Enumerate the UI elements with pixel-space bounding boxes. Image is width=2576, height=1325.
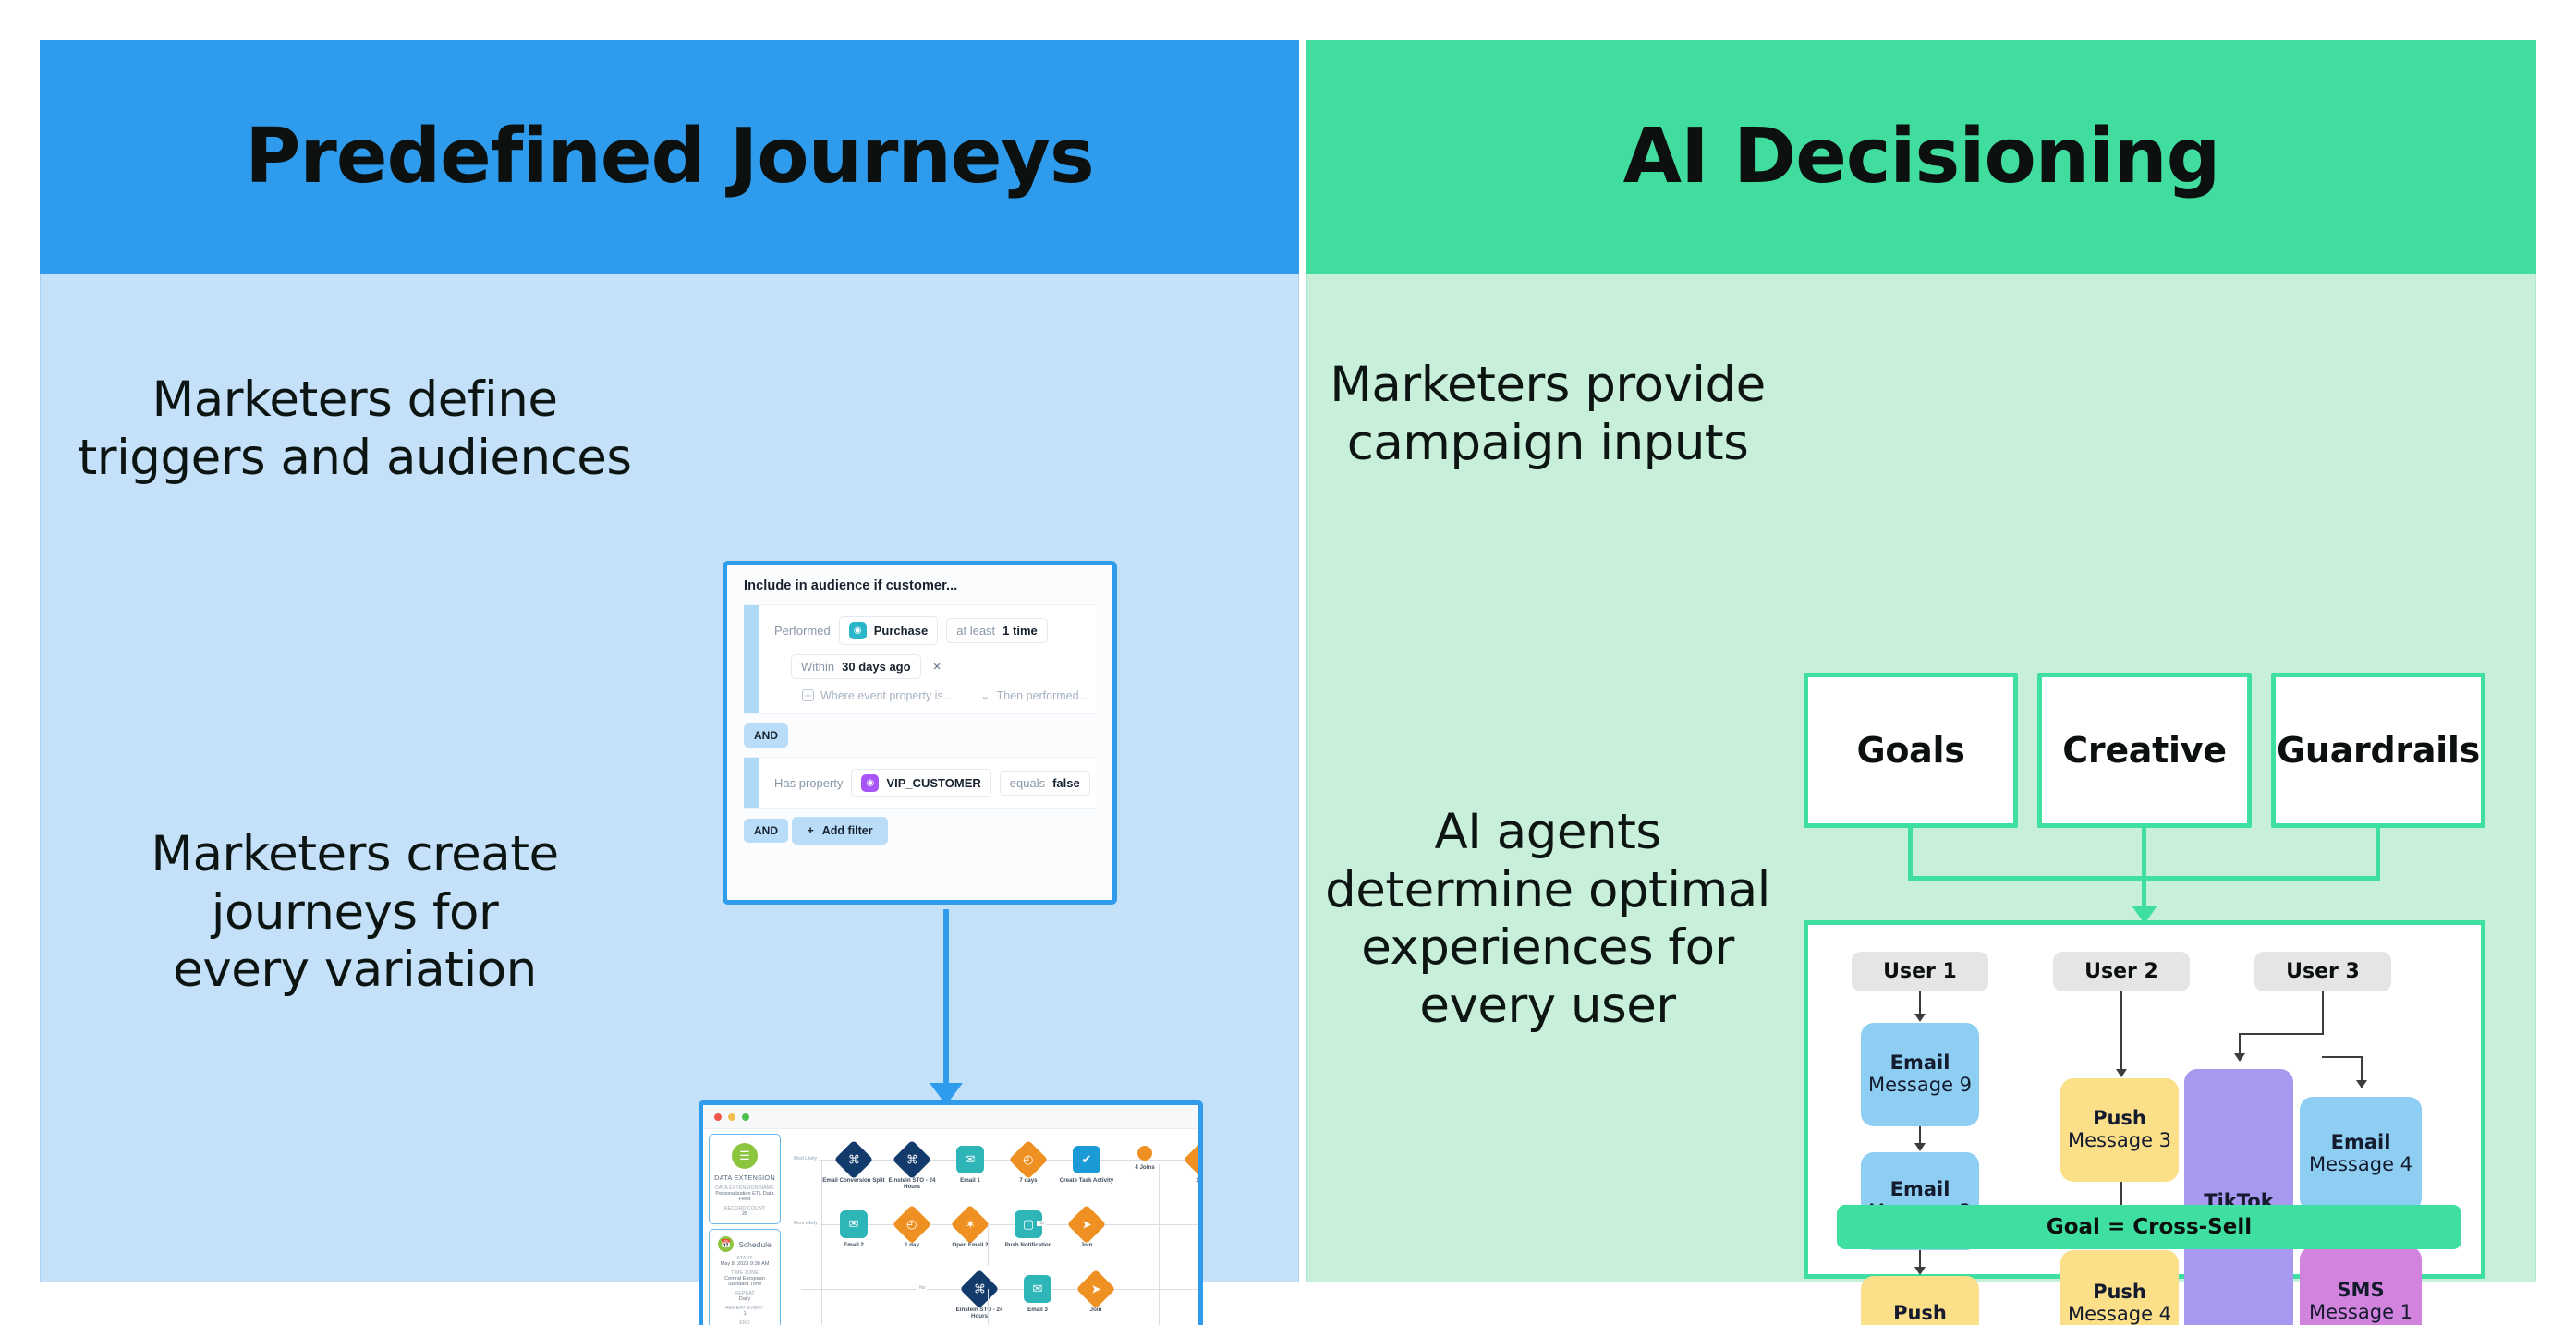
ai-decisioning-panel: AI Decisioning Marketers provide campaig… [1306, 40, 2536, 1282]
journey-node[interactable]: ⌘Einstein STO - 24 Hours [947, 1275, 1012, 1320]
flow-arrowhead-icon [2234, 1053, 2245, 1062]
schedule-repeat-value: Daily [713, 1296, 776, 1302]
close-icon[interactable]: × [933, 659, 942, 675]
message-node-u3-email: Email Message 4 [2300, 1097, 2422, 1211]
filter-frequency-prefix: at least [956, 624, 995, 638]
journey-join-line [1159, 1229, 1160, 1298]
right-blurb-2-line1: AI agents [1317, 804, 1779, 862]
window-close-icon[interactable] [714, 1113, 722, 1121]
right-blurb-1: Marketers provide campaign inputs [1317, 357, 1779, 472]
journey-node[interactable]: ➤Join [1063, 1275, 1128, 1313]
message-node-u2-2-channel: Push [2093, 1282, 2146, 1304]
journey-node-circ-icon [1137, 1146, 1152, 1161]
flow-arrowhead-icon [2356, 1080, 2367, 1088]
journey-node-dia-icon: ➤ [1067, 1205, 1106, 1244]
filter-add-property-action[interactable]: + Where event property is... [802, 689, 953, 702]
user-node-1: User 1 [1852, 952, 1988, 991]
flow-line [2322, 1056, 2363, 1058]
journey-builder-card[interactable]: ☰ DATA EXTENSION DATA EXTENSION NAME Per… [699, 1100, 1203, 1325]
left-blurb-1: Marketers define triggers and audiences [59, 371, 650, 487]
right-panel-body: Marketers provide campaign inputs AI age… [1306, 274, 2536, 1282]
journey-node-dia-icon: ⌘ [893, 1140, 931, 1179]
connector-guardrails-stem [2376, 828, 2380, 881]
left-blurb-1-line2: triggers and audiences [59, 430, 650, 488]
journey-trunk-line [821, 1160, 822, 1325]
ai-decision-diagram: User 1 User 2 User 3 Email Message 9 Ema [1804, 920, 2485, 1279]
filter-event-chip[interactable]: ◉ Purchase [839, 616, 939, 645]
journey-node-label: 1 day [880, 1242, 944, 1248]
filter-label-has-property: Has property [774, 776, 843, 790]
journey-node-label: 4 Joins [1112, 1164, 1177, 1171]
input-box-creative[interactable]: Creative [2037, 673, 2252, 828]
flow-line [2361, 1056, 2363, 1082]
journey-row: No⌘Einstein STO - 24 Hours✉Email 3➤Join [784, 1266, 1198, 1325]
schedule-title: Schedule [738, 1240, 771, 1249]
journey-node-label: Open Email 2 [938, 1242, 1002, 1248]
window-minimize-icon[interactable] [728, 1113, 735, 1121]
journey-node[interactable]: 4 Joins [1112, 1146, 1177, 1171]
schedule-end-key: END [713, 1320, 776, 1325]
input-box-creative-label: Creative [2062, 730, 2226, 771]
filter-subactions: + Where event property is... ⌄ Then perf… [802, 688, 1096, 702]
journey-node-sq-icon: ✉ [1024, 1275, 1051, 1303]
journey-node[interactable]: ✉Email 3 [1005, 1275, 1070, 1313]
add-filter-button[interactable]: + Add filter [792, 817, 887, 845]
flow-arrowhead-icon [2116, 1069, 2127, 1077]
connector-goals-stem [1908, 828, 1913, 881]
right-blurb-2-line4: every user [1317, 978, 1779, 1036]
right-blurb-1-line1: Marketers provide [1317, 357, 1779, 415]
journey-node-dia-icon: ◴ [893, 1205, 931, 1244]
filter-condition-group-2: Has property ◉ VIP_CUSTOMER equals false [744, 757, 1096, 809]
message-node-u1-2-channel: Email [1890, 1179, 1950, 1201]
left-panel-body: Marketers define triggers and audiences … [40, 274, 1299, 1282]
journey-branch-line [988, 1289, 989, 1325]
connector-creative-stem [2142, 828, 2146, 881]
journey-node-dia-icon: ⌘ [834, 1140, 873, 1179]
filter-event-name: Purchase [874, 624, 929, 638]
journey-node-label: 7 days [996, 1177, 1061, 1184]
page-title-right: AI Decisioning [1623, 119, 2220, 195]
flow-line [1919, 1126, 1921, 1145]
filter-rail [744, 758, 759, 808]
journey-edge-label: No [917, 1285, 927, 1291]
flow-line [2120, 991, 2122, 1071]
flow-arrowhead-icon [1914, 1014, 1926, 1022]
data-extension-name-value: Personalization ETL Data Feed [713, 1191, 776, 1202]
journey-node-label: Join [1054, 1242, 1119, 1248]
data-extension-title: DATA EXTENSION [713, 1173, 776, 1182]
journey-sidebar: ☰ DATA EXTENSION DATA EXTENSION NAME Per… [703, 1129, 784, 1325]
journey-node-label: Email 3 [1005, 1307, 1070, 1313]
add-filter-label: Add filter [822, 824, 873, 837]
journey-node[interactable]: ⌘Einstein STO - 24 Hours [880, 1146, 944, 1191]
goal-bar-label: Goal = Cross-Sell [2047, 1215, 2252, 1239]
journey-row: Most Likely⌘Email Conversion Split⌘Einst… [784, 1137, 1198, 1209]
flow-arrowhead-icon [1914, 1267, 1926, 1275]
journey-branch-line [988, 1224, 989, 1266]
filter-and-operator-1[interactable]: AND [744, 723, 788, 748]
schedule-timezone-value: Central European Standard Time [713, 1276, 776, 1287]
filter-property-chip[interactable]: ◉ VIP_CUSTOMER [851, 769, 990, 797]
filter-condition-group-1: Performed ◉ Purchase at least 1 time [744, 604, 1096, 714]
event-icon: ◉ [849, 622, 867, 639]
journey-join-line [1159, 1294, 1160, 1325]
filter-operator-value: false [1052, 776, 1080, 790]
filter-property-name: VIP_CUSTOMER [886, 776, 980, 790]
message-node-u1-1: Email Message 9 [1861, 1023, 1979, 1126]
journey-node[interactable]: ➤Join [1054, 1210, 1119, 1248]
filter-then-performed-label: Then performed... [997, 689, 1088, 702]
user-node-2-label: User 2 [2084, 960, 2158, 983]
message-node-u3-sms-channel: SMS [2337, 1280, 2384, 1302]
right-blurb-2-line3: experiences for [1317, 919, 1779, 978]
left-panel-header: Predefined Journeys [40, 40, 1299, 274]
user-node-2: User 2 [2053, 952, 2190, 991]
window-titlebar [703, 1105, 1198, 1129]
filter-timeframe-chip[interactable]: Within 30 days ago [791, 654, 921, 679]
journey-node[interactable]: ⌘Email Conversion Split [821, 1146, 886, 1184]
journey-node-dia-icon: ➤ [1076, 1270, 1115, 1308]
schedule-panel[interactable]: 📅 Schedule START May 8, 2023 9:38 AM TIM… [709, 1229, 781, 1325]
journey-node-label: Email 2 [821, 1242, 886, 1248]
filter-property-operator-chip[interactable]: equals false [1000, 771, 1090, 796]
audience-filter-card[interactable]: Include in audience if customer... Perfo… [723, 561, 1117, 905]
message-node-u1-1-message: Message 9 [1868, 1075, 1972, 1097]
record-count-value: 28 [713, 1211, 776, 1217]
property-icon: ◉ [861, 774, 879, 792]
journey-node[interactable]: ◴1 day [1171, 1146, 1198, 1184]
window-maximize-icon[interactable] [742, 1113, 749, 1121]
journey-node-sq-icon: ✉ [956, 1146, 984, 1173]
message-node-u3-tiktok: TikTok Ad Set 4 [2184, 1069, 2293, 1325]
left-blurb-2: Marketers create journeys for every vari… [59, 826, 650, 1000]
plus-box-icon: + [802, 689, 814, 701]
filter-card-title: Include in audience if customer... [744, 578, 1096, 593]
journey-canvas[interactable]: Most Likely⌘Email Conversion Split⌘Einst… [784, 1129, 1198, 1325]
calendar-icon: 📅 [718, 1236, 734, 1252]
message-node-u1-3: Push Message 2 [1861, 1276, 1979, 1325]
journey-node-label: Create Task Activity [1054, 1177, 1119, 1184]
journey-edge-label: More Likely [792, 1221, 820, 1226]
predefined-journeys-panel: Predefined Journeys Marketers define tri… [40, 40, 1299, 1282]
user-node-3: User 3 [2254, 952, 2391, 991]
right-blurb-1-line2: campaign inputs [1317, 415, 1779, 473]
journey-node[interactable]: ▢Push Notification [996, 1210, 1061, 1248]
filter-rail [744, 605, 759, 713]
message-node-u2-1-channel: Push [2093, 1108, 2146, 1130]
journey-node[interactable]: ✉Email 1 [938, 1146, 1002, 1184]
filter-add-property-label: Where event property is... [820, 689, 953, 702]
left-blurb-2-line3: every variation [59, 942, 650, 1000]
journey-node[interactable]: ✶Open Email 2 [938, 1210, 1002, 1248]
input-box-goals-label: Goals [1856, 730, 1964, 771]
user-node-3-label: User 3 [2286, 960, 2360, 983]
message-node-u3-email-channel: Email [2331, 1132, 2391, 1154]
plus-icon: + [807, 824, 813, 837]
filter-frequency-chip[interactable]: at least 1 time [946, 618, 1048, 643]
journey-node[interactable]: ◴7 days [996, 1146, 1061, 1184]
journey-node-label: Einstein STO - 24 Hours [947, 1307, 1012, 1320]
schedule-start-value: May 8, 2023 9:38 AM [713, 1261, 776, 1267]
message-node-u1-1-channel: Email [1890, 1052, 1950, 1075]
left-blurb-1-line1: Marketers define [59, 371, 650, 430]
flow-line [2239, 1033, 2241, 1055]
message-node-u2-2: Push Message 4 [2060, 1250, 2179, 1325]
filter-row-property: Has property ◉ VIP_CUSTOMER equals false [774, 769, 1096, 797]
journey-branch-label: No [1037, 1221, 1046, 1226]
journey-node-dia-icon: ◴ [1184, 1140, 1198, 1179]
flow-arrowhead-icon [1914, 1143, 1926, 1151]
message-node-u2-1-message: Message 3 [2068, 1130, 2171, 1152]
journey-node-sq-icon: ✉ [840, 1210, 868, 1238]
filter-operator-prefix: equals [1010, 776, 1045, 790]
left-blurb-2-line2: journeys for [59, 884, 650, 942]
goal-bar: Goal = Cross-Sell [1837, 1205, 2461, 1249]
journey-node-label: Email 1 [938, 1177, 1002, 1184]
journey-node-dia-icon: ◴ [1009, 1140, 1048, 1179]
journey-node[interactable]: ◴1 day [880, 1210, 944, 1248]
list-icon: ☰ [732, 1143, 758, 1169]
right-blurb-2: AI agents determine optimal experiences … [1317, 804, 1779, 1035]
journey-node-sq-icon: ✔ [1073, 1146, 1100, 1173]
comparison-infographic: Predefined Journeys Marketers define tri… [0, 0, 2576, 1325]
flow-line [2239, 1033, 2324, 1035]
journey-row: More Likely✉Email 2◴1 day✶Open Email 2▢P… [784, 1201, 1198, 1273]
journey-node[interactable]: ✉Email 2 [821, 1210, 886, 1248]
filter-timeframe-prefix: Within [801, 660, 834, 674]
filter-frequency-value: 1 time [1002, 624, 1038, 638]
flow-line [1919, 1250, 1921, 1269]
message-node-u1-3-channel: Push [1893, 1303, 1947, 1325]
journey-node-dia-icon: ✶ [951, 1205, 990, 1244]
journey-node-dia-icon: ⌘ [960, 1270, 999, 1308]
right-blurb-2-line2: determine optimal [1317, 862, 1779, 920]
filter-label-performed: Performed [774, 624, 831, 638]
input-box-guardrails-label: Guardrails [2277, 730, 2480, 771]
filter-and-operator-2[interactable]: AND [744, 819, 788, 843]
message-node-u2-1: Push Message 3 [2060, 1078, 2179, 1182]
input-box-goals[interactable]: Goals [1804, 673, 2018, 828]
message-node-u3-sms: SMS Message 1 [2300, 1246, 2422, 1325]
filter-timeframe-value: 30 days ago [842, 660, 910, 674]
journey-edge-label: Most Likely [792, 1156, 819, 1161]
journey-node-label: Einstein STO - 24 Hours [880, 1177, 944, 1191]
journey-node[interactable]: ✔Create Task Activity [1054, 1146, 1119, 1184]
data-extension-panel[interactable]: ☰ DATA EXTENSION DATA EXTENSION NAME Per… [709, 1134, 781, 1224]
journey-node-label: Email Conversion Split [821, 1177, 886, 1184]
right-panel-header: AI Decisioning [1306, 40, 2536, 274]
message-node-u2-2-message: Message 4 [2068, 1304, 2171, 1325]
flow-line [2322, 991, 2324, 1034]
message-node-u3-sms-message: Message 1 [2309, 1302, 2412, 1324]
message-node-u3-email-message: Message 4 [2309, 1154, 2412, 1176]
journey-node-label: Join [1063, 1307, 1128, 1313]
filter-row-performed: Performed ◉ Purchase at least 1 time [774, 616, 1096, 645]
page-title-left: Predefined Journeys [245, 119, 1093, 195]
flow-line [1919, 991, 1921, 1015]
user-node-1-label: User 1 [1883, 960, 1957, 983]
funnel-icon: ⌄ [980, 688, 990, 702]
journey-join-line [1159, 1164, 1160, 1234]
journey-node-label: Push Notification [996, 1242, 1061, 1248]
filter-row-timeframe: Within 30 days ago × [791, 654, 1096, 679]
connector-line [943, 909, 949, 1094]
schedule-every-value: 1 [713, 1311, 776, 1317]
filter-then-performed-action[interactable]: ⌄ Then performed... [980, 688, 1088, 702]
journey-node-label: 1 day [1171, 1177, 1198, 1184]
input-box-guardrails[interactable]: Guardrails [2271, 673, 2485, 828]
left-blurb-2-line1: Marketers create [59, 826, 650, 884]
